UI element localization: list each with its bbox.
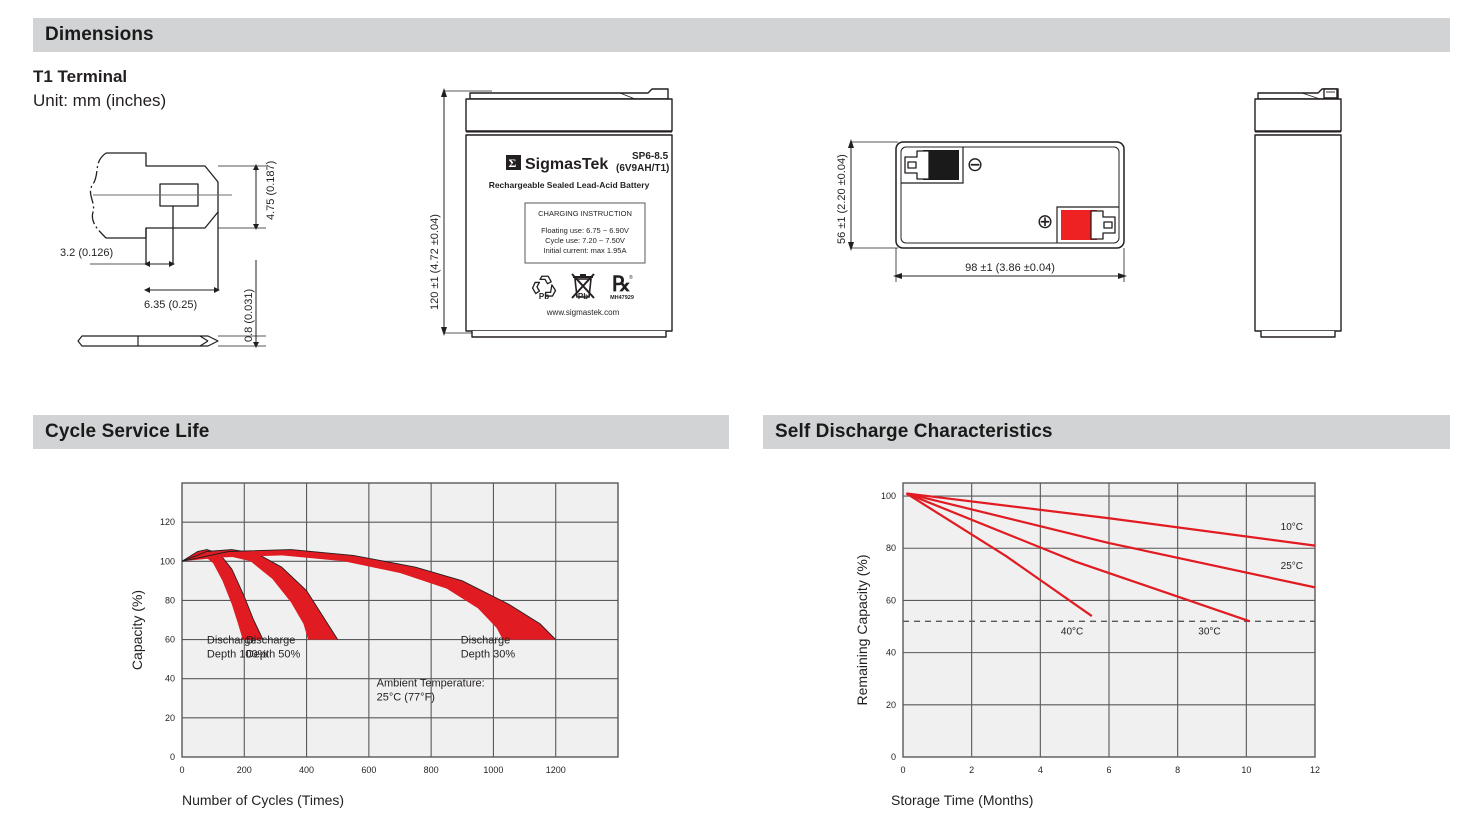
section-header-dimensions: Dimensions xyxy=(33,18,1450,52)
charging-line-cycle: Cycle use: 7.20 ~ 7.50V xyxy=(545,236,625,245)
y-tick-label: 60 xyxy=(165,635,175,645)
y-tick-label: 120 xyxy=(160,517,175,527)
charging-line-floating: Floating use: 6.75 ~ 6.90V xyxy=(541,226,629,235)
website-label: www.sigmastek.com xyxy=(546,308,620,317)
x-tick-label: 600 xyxy=(361,765,376,775)
y-tick-label: 0 xyxy=(170,752,175,762)
chart-annotation: Ambient Temperature: xyxy=(377,678,485,690)
section-header-cycle-service-life: Cycle Service Life xyxy=(33,415,729,449)
x-tick-label: 400 xyxy=(299,765,314,775)
chart-annotation: Discharge xyxy=(246,634,296,646)
y-tick-label: 40 xyxy=(165,674,175,684)
battery-spec: (6V9AH/T1) xyxy=(616,163,669,174)
series-label: 30°C xyxy=(1198,626,1220,637)
recycle-pb-label: Pb xyxy=(539,292,549,301)
figure-battery-side-view xyxy=(1240,85,1360,350)
x-tick-label: 1200 xyxy=(546,765,566,775)
battery-model: SP6-8.5 xyxy=(632,151,669,162)
chart-annotation: Discharge xyxy=(461,634,511,646)
y-axis-title: Capacity (%) xyxy=(129,590,145,670)
x-tick-label: 1000 xyxy=(483,765,503,775)
y-tick-label: 100 xyxy=(881,491,896,501)
chart-annotation: Depth 30% xyxy=(461,648,516,660)
y-tick-label: 80 xyxy=(165,595,175,605)
x-tick-label: 10 xyxy=(1241,765,1251,775)
y-axis-title: Remaining Capacity (%) xyxy=(854,555,870,706)
dim-top-width: 98 ±1 (3.86 ±0.04) xyxy=(965,262,1055,274)
x-tick-label: 4 xyxy=(1038,765,1043,775)
chart-annotation: 25°C (77°F) xyxy=(377,692,435,704)
negative-polarity-icon: ⊖ xyxy=(967,154,984,176)
dim-terminal-thickness: 0.8 (0.031) xyxy=(243,289,255,342)
terminal-type-label: T1 Terminal xyxy=(33,66,127,87)
section-header-self-discharge: Self Discharge Characteristics xyxy=(763,415,1450,449)
x-tick-label: 6 xyxy=(1106,765,1111,775)
y-tick-label: 60 xyxy=(886,595,896,605)
chart-cycle-service-life: 020406080100120020040060080010001200Capa… xyxy=(110,465,640,810)
section-title-cycle-service-life: Cycle Service Life xyxy=(45,421,209,443)
dim-top-depth: 56 ±1 (2.20 ±0.04) xyxy=(836,154,848,244)
ul-mark-icon: ℞ ® xyxy=(612,272,633,296)
svg-text:®: ® xyxy=(629,274,633,281)
x-tick-label: 800 xyxy=(424,765,439,775)
y-tick-label: 100 xyxy=(160,556,175,566)
charging-instruction-title: CHARGING INSTRUCTION xyxy=(538,209,632,218)
sigma-glyph-icon: Σ xyxy=(509,156,517,170)
x-tick-label: 8 xyxy=(1175,765,1180,775)
x-tick-label: 0 xyxy=(179,765,184,775)
chart-annotation: Depth 50% xyxy=(246,648,301,660)
svg-text:℞: ℞ xyxy=(612,272,631,296)
x-tick-label: 12 xyxy=(1310,765,1320,775)
series-label: 25°C xyxy=(1281,561,1303,572)
positive-polarity-icon: ⊕ xyxy=(1037,211,1054,233)
section-title-self-discharge: Self Discharge Characteristics xyxy=(775,421,1053,443)
ul-file-number: MH47929 xyxy=(610,295,634,301)
y-tick-label: 40 xyxy=(886,648,896,658)
y-tick-label: 20 xyxy=(886,700,896,710)
dim-front-height: 120 ±1 (4.72 ±0.04) xyxy=(429,214,441,310)
series-label: 40°C xyxy=(1061,626,1083,637)
x-axis-title: Storage Time (Months) xyxy=(891,792,1033,808)
y-tick-label: 80 xyxy=(886,543,896,553)
dim-terminal-width: 6.35 (0.25) xyxy=(144,299,197,311)
x-tick-label: 200 xyxy=(237,765,252,775)
dim-terminal-height: 4.75 (0.187) xyxy=(265,161,277,220)
section-title-dimensions: Dimensions xyxy=(45,24,154,46)
battery-description: Rechargeable Sealed Lead-Acid Battery xyxy=(489,180,650,190)
brand-name: SigmasTek xyxy=(525,156,608,173)
unit-note-label: Unit: mm (inches) xyxy=(33,90,166,111)
x-tick-label: 0 xyxy=(900,765,905,775)
y-tick-label: 20 xyxy=(165,713,175,723)
y-tick-label: 0 xyxy=(891,752,896,762)
charging-line-initial-current: Initial current: max 1.95A xyxy=(544,246,627,255)
figure-t1-terminal-drawing: 4.75 (0.187) 3.2 (0.126) 6.35 (0.25) 0.8… xyxy=(60,140,320,365)
wheelie-bin-pb-label: Pb xyxy=(578,292,588,301)
figure-battery-top-view: 56 ±1 (2.20 ±0.04) ⊖ ⊕ 98 ±1 (3.86 ±0.04… xyxy=(820,110,1160,290)
chart-self-discharge: 020406080100024681012Remaining Capacity … xyxy=(845,465,1405,810)
x-axis-title: Number of Cycles (Times) xyxy=(182,792,344,808)
figure-battery-front-view: 120 ±1 (4.72 ±0.04) Σ SigmasTek SP6-8.5 … xyxy=(420,85,710,350)
x-tick-label: 2 xyxy=(969,765,974,775)
series-label: 10°C xyxy=(1281,522,1303,533)
dim-terminal-offset: 3.2 (0.126) xyxy=(60,247,113,259)
